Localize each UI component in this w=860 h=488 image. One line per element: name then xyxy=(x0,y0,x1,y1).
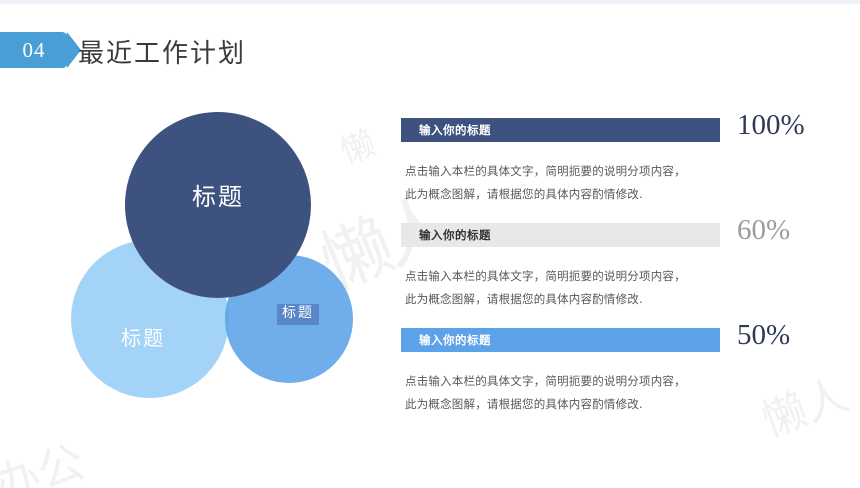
venn-circle-bottom-left-label: 标题 xyxy=(121,322,165,351)
panel-item-3-body-line1: 点击输入本栏的具体文字，简明扼要的说明分项内容， xyxy=(405,370,686,393)
progress-bar-3[interactable]: 输入你的标题 xyxy=(401,328,720,352)
venn-circle-bottom-right-label[interactable]: 标题 xyxy=(277,304,319,325)
progress-bar-2[interactable]: 输入你的标题 xyxy=(401,223,720,247)
panel-item-2-body: 点击输入本栏的具体文字，简明扼要的说明分项内容， 此为概念图解，请根据您的具体内… xyxy=(405,265,686,311)
panel-item-1-body-line1: 点击输入本栏的具体文字，简明扼要的说明分项内容， xyxy=(405,160,686,183)
panel-item-1-body: 点击输入本栏的具体文字，简明扼要的说明分项内容， 此为概念图解，请根据您的具体内… xyxy=(405,160,686,206)
panel-item-3-body: 点击输入本栏的具体文字，简明扼要的说明分项内容， 此为概念图解，请根据您的具体内… xyxy=(405,370,686,416)
venn-circle-top-label: 标题 xyxy=(192,177,244,212)
percent-value-3: 50% xyxy=(737,319,790,352)
venn-circle-top[interactable]: 标题 xyxy=(125,112,311,298)
percent-value-1: 100% xyxy=(737,109,805,142)
venn-diagram: 标题 标题 标题 xyxy=(0,0,400,488)
content-panel: 输入你的标题 100% 点击输入本栏的具体文字，简明扼要的说明分项内容， 此为概… xyxy=(401,0,860,488)
panel-item-3-body-line2: 此为概念图解，请根据您的具体内容酌情修改. xyxy=(405,393,686,416)
progress-bar-3-label: 输入你的标题 xyxy=(401,332,491,348)
progress-bar-2-label: 输入你的标题 xyxy=(401,227,491,243)
panel-item-2-body-line1: 点击输入本栏的具体文字，简明扼要的说明分项内容， xyxy=(405,265,686,288)
percent-value-2: 60% xyxy=(737,214,790,247)
panel-item-2-body-line2: 此为概念图解，请根据您的具体内容酌情修改. xyxy=(405,288,686,311)
panel-item-1-body-line2: 此为概念图解，请根据您的具体内容酌情修改. xyxy=(405,183,686,206)
slide-canvas: 办公 懒人 懒人 懒 04 最近工作计划 标题 标题 标题 输入你的标题 100… xyxy=(0,0,860,488)
progress-bar-1-label: 输入你的标题 xyxy=(401,122,491,138)
progress-bar-1[interactable]: 输入你的标题 xyxy=(401,118,720,142)
